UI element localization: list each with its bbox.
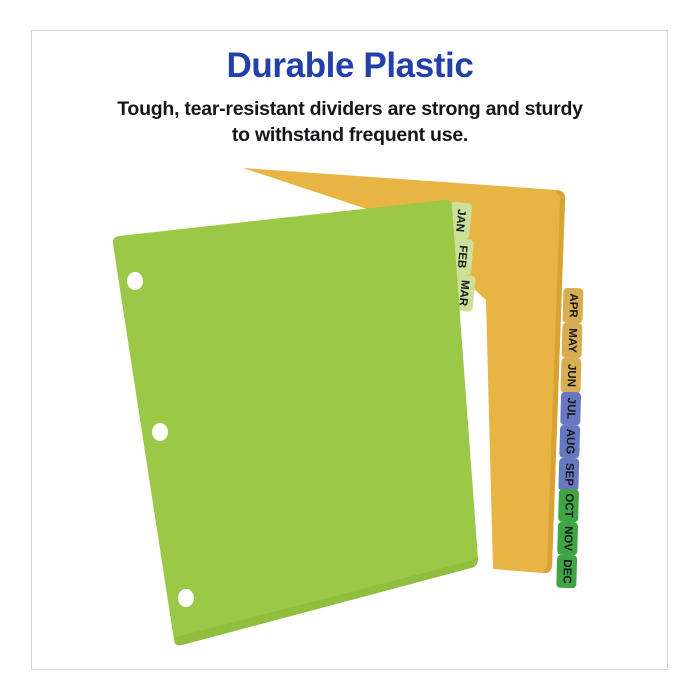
tabs-jul-sep: JUL AUG SEP: [558, 392, 581, 492]
green-divider-punch-hole-middle: [152, 423, 168, 441]
tab-may-label: MAY: [566, 328, 579, 353]
tab-aug[interactable]: AUG: [559, 425, 580, 459]
tab-may[interactable]: MAY: [562, 323, 583, 359]
tab-nov-label: NOV: [561, 526, 574, 552]
tab-jun[interactable]: JUN: [561, 358, 582, 394]
gold-divider-punch-hole: [245, 199, 262, 218]
tab-dec-label: DEC: [560, 559, 573, 584]
tab-nov[interactable]: NOV: [557, 522, 578, 556]
tab-oct[interactable]: OCT: [558, 489, 579, 523]
tabs-apr-jun: APR MAY JUN: [561, 288, 584, 394]
tab-apr-label: APR: [567, 293, 580, 318]
green-divider: [113, 200, 478, 646]
tab-sep-label: SEP: [562, 463, 575, 487]
tab-jul[interactable]: JUL: [560, 392, 581, 426]
tab-jan-label: JAN: [453, 208, 467, 232]
tab-aug-label: AUG: [563, 429, 576, 455]
product-image-canvas: Durable Plastic Tough, tear-resistant di…: [0, 0, 700, 700]
image-content: Durable Plastic Tough, tear-resistant di…: [0, 0, 700, 700]
tab-oct-label: OCT: [562, 493, 575, 518]
tabs-oct-dec: OCT NOV DEC: [556, 489, 579, 589]
tab-feb-label: FEB: [455, 245, 469, 269]
green-divider-punch-hole-top: [127, 272, 143, 290]
tab-jun-label: JUN: [565, 364, 578, 387]
green-divider-punch-hole-bottom: [178, 589, 194, 607]
divider-product-photo: JAN FEB MAR APR MAY: [0, 0, 700, 700]
tab-apr[interactable]: APR: [562, 288, 583, 324]
tab-jul-label: JUL: [564, 397, 577, 419]
tab-dec[interactable]: DEC: [556, 555, 577, 589]
tab-sep[interactable]: SEP: [558, 458, 579, 492]
